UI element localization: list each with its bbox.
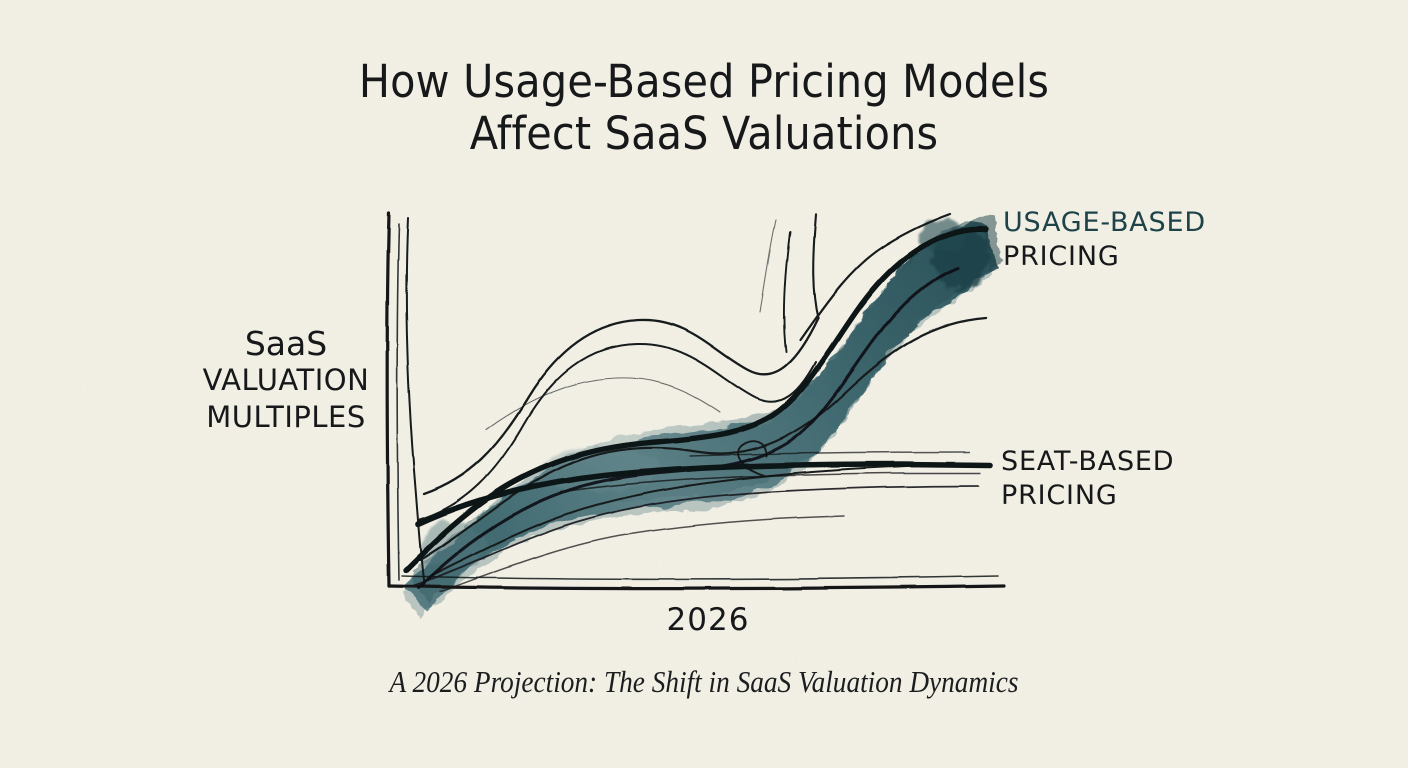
sketch-guide-upper-hook [813,214,818,318]
chart-drawing [0,0,1408,768]
infographic-canvas: How Usage-Based Pricing Models Affect Sa… [0,0,1408,768]
sketch-guide-left-drop [406,218,424,584]
y-axis-line-shadow [397,224,399,580]
x-axis-line-shadow [402,576,998,579]
y-axis-line [387,213,389,586]
sketch-guide-envelope-2-hook [784,232,790,352]
usage-based-watercolor-band [400,216,1003,619]
sketch-guide-hairline-2 [760,220,776,312]
sketch-guide-hairline [486,378,720,430]
x-axis-line [389,586,1004,589]
